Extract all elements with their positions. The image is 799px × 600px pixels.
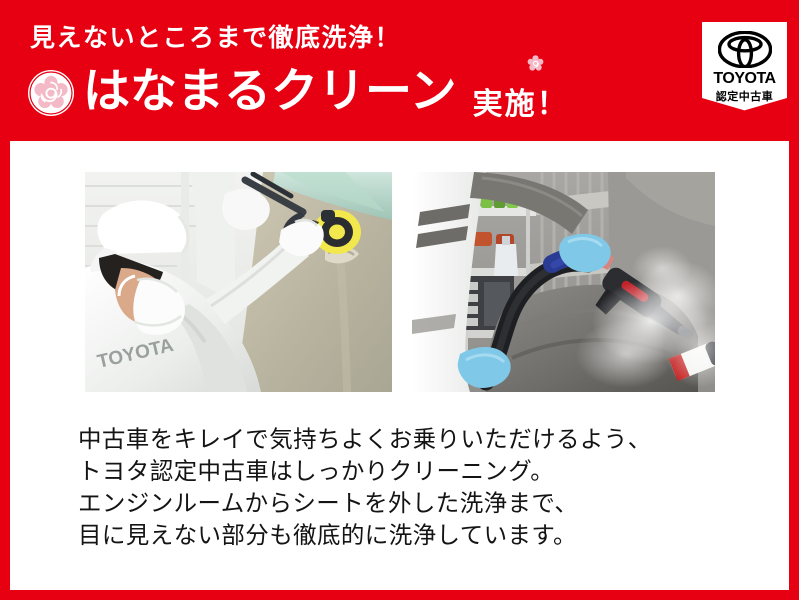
header-tagline: 見えないところまで徹底洗浄！ bbox=[30, 26, 401, 51]
toyota-ellipse-mark-icon bbox=[718, 31, 772, 68]
brand-name-hanamaru-clean: はなまるクリーン bbox=[83, 68, 457, 115]
toyota-certified-label: 認定中古車 bbox=[702, 88, 787, 104]
body-copy-line-3: エンジンルームからシートを外した洗浄まで、 bbox=[78, 487, 738, 519]
toyota-certified-used-car-logo: TOYOTA 認定中古車 bbox=[699, 19, 790, 121]
brand-lockup: はなまるクリーン 実施！ bbox=[28, 62, 569, 124]
brand-suffix-jisshi: 実施！ bbox=[473, 79, 569, 123]
body-copy: 中古車をキレイで気持ちよくお乗りいただけるよう、 トヨタ認定中古車はしっかりクリ… bbox=[78, 423, 738, 551]
small-flower-icon bbox=[526, 54, 545, 73]
hanamaru-flower-icon bbox=[28, 70, 74, 116]
photo-steam-cleaning bbox=[412, 172, 715, 392]
banner-header: 見えないところまで徹底洗浄！ bbox=[0, 0, 799, 141]
toyota-logo-plate: TOYOTA 認定中古車 bbox=[702, 22, 787, 118]
hanamaru-clean-banner: 見えないところまで徹底洗浄！ bbox=[0, 0, 799, 600]
body-copy-line-4: 目に見えない部分も徹底的に洗浄しています。 bbox=[78, 519, 738, 551]
body-copy-line-2: トヨタ認定中古車はしっかりクリーニング。 bbox=[78, 455, 738, 487]
photo-gallery: TOYOTA bbox=[85, 172, 715, 392]
frame-border-bottom bbox=[0, 590, 799, 600]
photo-polishing: TOYOTA bbox=[85, 172, 392, 392]
header-content: 見えないところまで徹底洗浄！ bbox=[28, 0, 688, 141]
body-copy-line-1: 中古車をキレイで気持ちよくお乗りいただけるよう、 bbox=[78, 423, 738, 455]
toyota-wordmark: TOYOTA bbox=[702, 70, 787, 88]
